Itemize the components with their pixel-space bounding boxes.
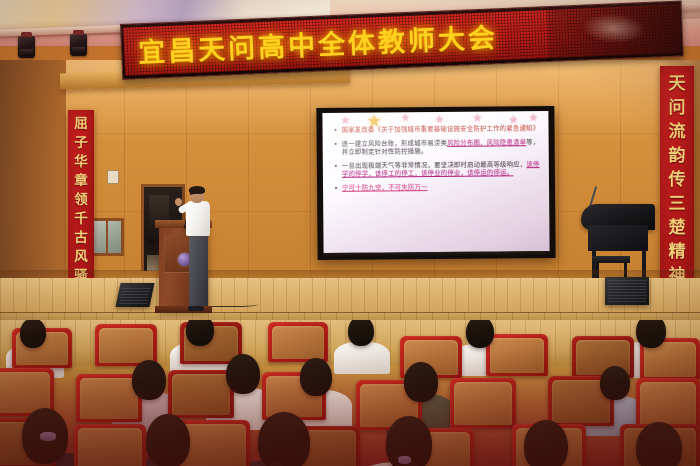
attendee-head <box>186 320 214 346</box>
slide-text-segment: 逐一建立风险台账，形成城市易涝类 <box>342 138 448 147</box>
attendee-head <box>20 320 46 348</box>
attendee-head <box>466 320 494 348</box>
couplet-character: 章 <box>74 172 88 191</box>
presenter <box>176 187 216 309</box>
couplet-character: 屈 <box>74 115 88 134</box>
slide-bullet: 宁可十防九空，不可失防万一 <box>333 182 541 192</box>
couplet-character: 古 <box>74 229 88 248</box>
attendee-head <box>636 320 666 348</box>
attendee-head <box>348 320 374 346</box>
slide-text-segment: 宁可十防九空，不可失防万一 <box>342 183 428 192</box>
couplet-character: 楚 <box>669 216 686 240</box>
led-banner-text: 宜昌天问高中全体教师大会 <box>137 16 498 70</box>
seated-audience <box>0 320 700 466</box>
wall-left-shadow <box>0 60 66 295</box>
stage-spotlight-icon <box>18 36 35 58</box>
slide-bullet: 国家发改委《关于加强城市重要基础设施安全防护工作的紧急通知》 <box>332 124 540 134</box>
presenter-trousers <box>189 234 208 306</box>
presenter-shoes <box>188 306 204 311</box>
couplet-character: 韵 <box>669 144 686 168</box>
led-banner-glare <box>581 11 647 45</box>
slide-bullet: 一旦出现极端天气等非常情况，要坚决即时启动最高等级响应，该停学的停学，该停工的停… <box>333 160 541 179</box>
projection-screen-frame: ★★★★★★★ 国家发改委《关于加强城市重要基础设施安全防护工作的紧急通知》逐一… <box>316 106 555 260</box>
speaker-grille <box>608 280 646 302</box>
wall-mounted-box <box>107 170 119 184</box>
couplet-character: 天 <box>669 72 686 96</box>
projection-screen: ★★★★★★★ 国家发改委《关于加强城市重要基础设施安全防护工作的紧急通知》逐一… <box>322 111 549 253</box>
spotlight-lens <box>72 47 85 54</box>
slide-text-body: 国家发改委《关于加强城市重要基础设施安全防护工作的紧急通知》逐一建立风险台账，形… <box>332 124 541 197</box>
couplet-character: 问 <box>669 96 686 120</box>
presenter-hair <box>189 186 205 194</box>
speaker-grille <box>119 286 151 304</box>
slide-text-segment: 风险分布图、风险隐患清单 <box>447 138 526 147</box>
slide-text-segment: 国家发改委《关于加强城市重要基础设施 <box>341 125 460 134</box>
couplet-character: 子 <box>74 134 88 153</box>
couplet-character: 华 <box>74 153 88 172</box>
star-icon: ★ <box>528 112 538 123</box>
star-icon: ★ <box>340 115 350 126</box>
star-icon: ★ <box>400 112 410 123</box>
couplet-character: 三 <box>669 192 686 216</box>
couplet-character: 流 <box>669 120 686 144</box>
couplet-character: 风 <box>74 248 88 267</box>
star-icon: ★ <box>472 113 482 124</box>
stage-monitor-left <box>115 283 154 307</box>
piano-body <box>588 225 648 251</box>
couplet-character: 领 <box>74 191 88 210</box>
couplet-character: 千 <box>74 210 88 229</box>
screen-bottom-bar <box>324 251 550 258</box>
auditorium-photo: 宜昌天问高中全体教师大会 屈子华章领千古风骚 天问流韵传三楚精神 ★★★★★★★… <box>0 0 700 466</box>
couplet-character: 传 <box>669 168 686 192</box>
spotlight-lens <box>20 49 33 56</box>
audience-dim-overlay <box>0 350 700 466</box>
presenter-hand <box>175 198 182 206</box>
slide-bullet: 逐一建立风险台账，形成城市易涝类风险分布图、风险隐患清单等，并立即制定针对性防控… <box>333 138 541 157</box>
stage-monitor-right <box>605 277 649 305</box>
couplet-character: 精 <box>669 240 686 264</box>
star-icon: ★ <box>434 114 444 125</box>
stage-spotlight-icon <box>70 34 87 56</box>
slide-text-segment: 安全防护工作的紧急通知》 <box>460 124 539 133</box>
